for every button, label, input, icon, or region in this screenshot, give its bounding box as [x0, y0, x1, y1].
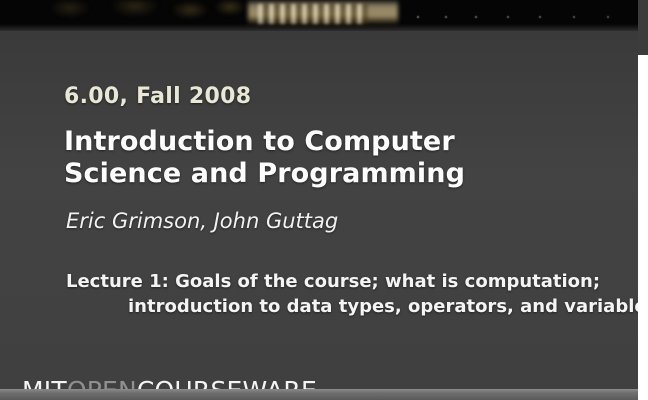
page-title: Introduction to Computer Science and Pro… [64, 126, 584, 190]
lecture-title-slide: 6.00, Fall 2008 Introduction to Computer… [0, 0, 638, 400]
lecture-description: Lecture 1: Goals of the course; what is … [66, 269, 638, 319]
lecture-description-line-3: types, operators, and variables [339, 296, 638, 317]
video-player-screen: 6.00, Fall 2008 Introduction to Computer… [0, 0, 648, 400]
campus-photo-banner [0, 0, 638, 31]
lecture-description-line-1: Lecture 1: Goals of the course; what is [66, 271, 458, 292]
frame-right-edge-dark [638, 0, 648, 55]
building-columns [258, 4, 368, 24]
player-control-bar[interactable] [0, 389, 638, 400]
window-lights [408, 12, 630, 22]
course-code: 6.00, Fall 2008 [64, 84, 251, 109]
course-title-line-1: Introduction to Computer [64, 126, 584, 158]
banner-fade-overlay [0, 24, 638, 31]
course-title-line-2: Science and Programming [64, 158, 584, 190]
slide-body: 6.00, Fall 2008 Introduction to Computer… [0, 31, 638, 389]
frame-right-edge-light [638, 55, 648, 400]
instructors: Eric Grimson, John Guttag [66, 209, 338, 233]
